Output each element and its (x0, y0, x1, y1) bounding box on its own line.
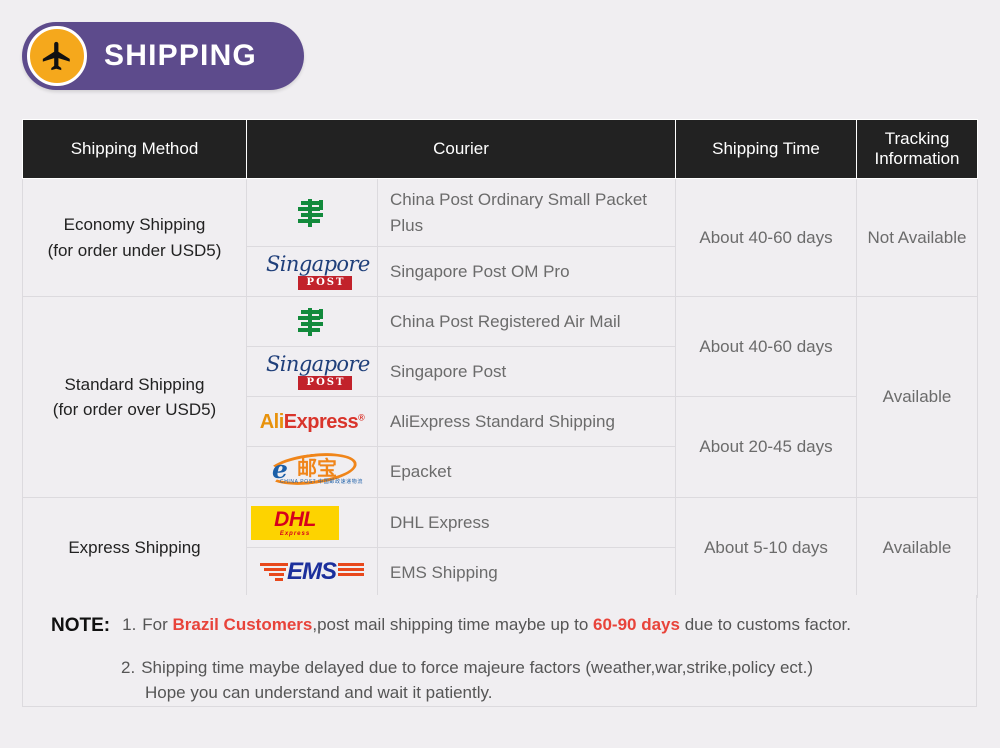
table-row: Economy Shipping (for order under USD5) (23, 179, 978, 247)
shipping-table: Shipping Method Courier Shipping Time Tr… (22, 119, 978, 598)
note-1-highlight-days: 60-90 days (593, 615, 680, 634)
note-1-part1: For (142, 615, 172, 634)
ems-speed-bars-right (338, 563, 364, 576)
note-label: NOTE: (51, 612, 110, 641)
shipping-time: About 40-60 days (676, 297, 857, 397)
method-express-line1: Express Shipping (27, 535, 242, 561)
header-tracking-information: Tracking Information (857, 120, 978, 179)
china-post-logo (247, 297, 378, 347)
note-1-part3: due to customs factor. (680, 615, 851, 634)
courier-name: Epacket (378, 447, 676, 498)
shipping-time: About 40-60 days (676, 179, 857, 297)
note-1-text: For Brazil Customers,post mail shipping … (142, 612, 851, 638)
banner-title: SHIPPING (104, 39, 257, 73)
dhl-wordmark: DHL (274, 509, 316, 530)
ems-logo: EMS (247, 548, 378, 598)
tracking-status: Available (857, 297, 978, 498)
courier-name: Singapore Post OM Pro (378, 247, 676, 297)
note-section: NOTE: 1. For Brazil Customers,post mail … (22, 595, 977, 707)
ali-suffix: Express (284, 411, 358, 433)
table-row: Express Shipping DHL Express DHL Express… (23, 498, 978, 548)
note-item-2: 2. Shipping time maybe delayed due to fo… (51, 655, 956, 681)
courier-name: AliExpress Standard Shipping (378, 397, 676, 447)
method-standard-line2: (for order over USD5) (27, 397, 242, 423)
shipping-info-page: SHIPPING Shipping Method Courier Shippin… (0, 0, 1000, 748)
courier-name: Singapore Post (378, 347, 676, 397)
singapore-post-logo: Singapore POST (247, 347, 378, 397)
header-shipping-time: Shipping Time (676, 120, 857, 179)
note-1-part2: ,post mail shipping time maybe up to (312, 615, 593, 634)
shipping-banner: SHIPPING (22, 22, 304, 90)
note-2-line2: Hope you can understand and wait it pati… (145, 683, 492, 702)
ems-wordmark: EMS (287, 560, 336, 584)
method-economy-line2: (for order under USD5) (27, 238, 242, 264)
method-standard-line1: Standard Shipping (27, 372, 242, 398)
epacket-logo: e 邮宝 CHINA POST 中国邮政速递物流 (247, 447, 378, 498)
dhl-logo: DHL Express (247, 498, 378, 548)
courier-name: China Post Ordinary Small Packet Plus (378, 179, 676, 247)
sgpost-script: Singapore (264, 254, 360, 275)
header-courier: Courier (247, 120, 676, 179)
ems-speed-bars-left (260, 563, 288, 581)
note-item-1: NOTE: 1. For Brazil Customers,post mail … (51, 612, 956, 641)
ali-trademark: ® (358, 412, 364, 422)
note-2-number: 2. (121, 655, 135, 681)
airplane-icon (27, 26, 87, 86)
method-economy-line1: Economy Shipping (27, 212, 242, 238)
shipping-time: About 20-45 days (676, 397, 857, 498)
table-header-row: Shipping Method Courier Shipping Time Tr… (23, 120, 978, 179)
epacket-chinese: 邮宝 (297, 459, 337, 479)
note-1-highlight-brazil: Brazil Customers (173, 615, 313, 634)
china-post-logo (247, 179, 378, 247)
table-row: Standard Shipping (for order over USD5) (23, 297, 978, 347)
courier-name: EMS Shipping (378, 548, 676, 598)
singapore-post-logo: Singapore POST (247, 247, 378, 297)
header-shipping-method: Shipping Method (23, 120, 247, 179)
note-2-line1: Shipping time maybe delayed due to force… (141, 655, 813, 681)
courier-name: DHL Express (378, 498, 676, 548)
method-economy: Economy Shipping (for order under USD5) (23, 179, 247, 297)
shipping-time: About 5-10 days (676, 498, 857, 598)
note-item-2-continued: Hope you can understand and wait it pati… (51, 680, 956, 706)
sgpost-badge: POST (298, 276, 353, 290)
courier-name: China Post Registered Air Mail (378, 297, 676, 347)
tracking-status: Available (857, 498, 978, 598)
dhl-subtext: Express (280, 531, 310, 537)
note-1-number: 1. (122, 612, 136, 638)
aliexpress-logo: AliExpress® (247, 397, 378, 447)
method-standard: Standard Shipping (for order over USD5) (23, 297, 247, 498)
sgpost-script: Singapore (264, 354, 360, 375)
tracking-status: Not Available (857, 179, 978, 297)
sgpost-badge: POST (298, 376, 353, 390)
method-express: Express Shipping (23, 498, 247, 598)
ali-prefix: Ali (260, 411, 284, 433)
